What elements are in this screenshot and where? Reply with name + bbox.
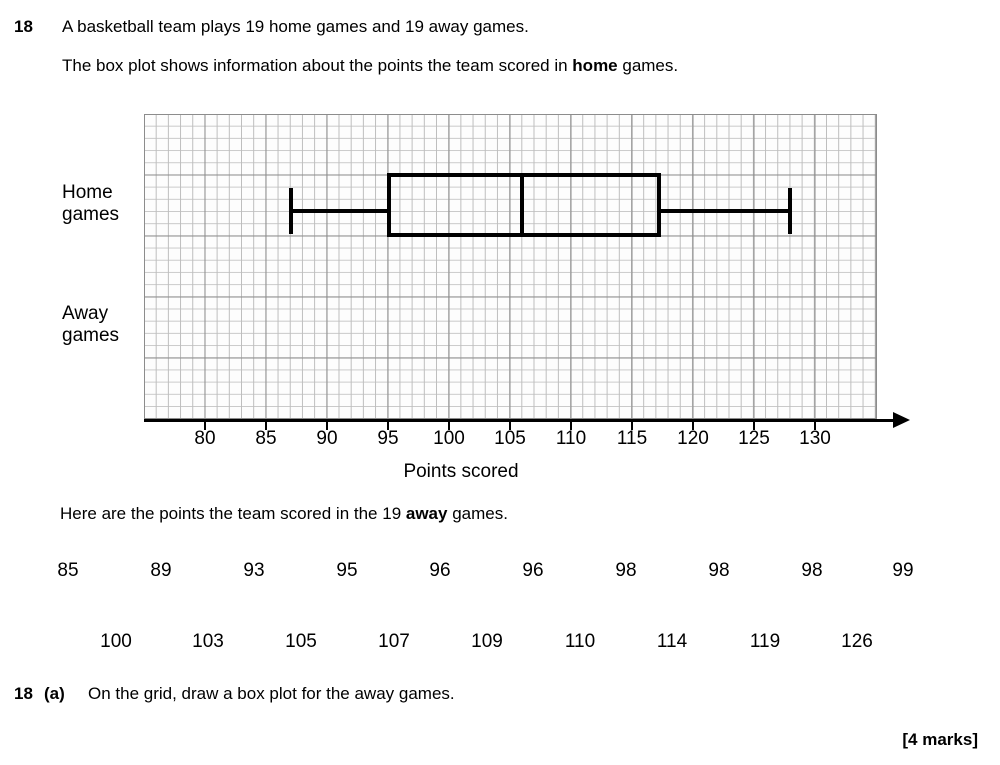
x-axis-title-text: Points scored [403,461,518,483]
away-data-value: 98 [615,561,636,580]
x-tick-label: 115 [617,429,647,448]
part-letter: (a) [44,685,65,702]
part-question-number: 18 [14,685,33,702]
question-line-3-emphasis: away [406,504,448,523]
question-line-3-part-a: Here are the points the team scored in t… [60,504,406,523]
away-data-value: 109 [471,632,503,651]
away-data-value: 98 [708,561,729,580]
x-axis-line [144,419,901,422]
part-a-text: On the grid, draw a box plot for the awa… [88,685,455,702]
x-tick-label: 120 [677,429,709,448]
away-data-value: 105 [285,632,317,651]
away-data-value: 119 [750,632,780,651]
home-q3-edge [657,173,661,237]
away-data-value: 96 [429,561,450,580]
home-median-line [520,173,524,237]
x-tick-label: 85 [255,429,276,448]
home-box-top [387,173,661,177]
away-data-value: 100 [100,632,132,651]
x-tick-label: 105 [494,429,526,448]
home-box-bottom [387,233,661,237]
x-tick-label: 95 [377,429,398,448]
away-data-value: 103 [192,632,224,651]
away-data-value: 110 [565,632,595,651]
x-tick-label: 125 [738,429,770,448]
category-label-home: Home games [62,182,119,227]
x-axis-title: Points scored [0,461,1000,483]
x-tick-label: 90 [316,429,337,448]
away-data-value: 114 [657,632,687,651]
away-data-value: 96 [522,561,543,580]
away-data-value: 98 [801,561,822,580]
home-q1-edge [387,173,391,237]
away-data-value: 85 [57,561,78,580]
category-label-away: Away games [62,303,119,348]
marks-note: [4 marks] [902,730,978,750]
away-data-value: 107 [378,632,410,651]
box-plot-chart: Home games Away games 80 85 90 95 100 10… [0,0,1000,500]
home-upper-whisker [657,209,791,213]
away-data-value: 95 [336,561,357,580]
away-data-value: 99 [892,561,913,580]
x-tick-label: 130 [799,429,831,448]
x-axis-arrow-icon [893,412,910,428]
x-tick-label: 100 [433,429,465,448]
away-data-value: 93 [243,561,264,580]
question-line-3: Here are the points the team scored in t… [60,505,508,522]
away-data-value: 89 [150,561,171,580]
home-lower-whisker [289,209,390,213]
home-max-whisker-cap [788,188,792,234]
question-line-3-part-c: games. [447,504,507,523]
x-tick-label: 110 [556,429,586,448]
x-tick-label: 80 [194,429,215,448]
away-data-value: 126 [841,632,873,651]
plot-grid[interactable] [144,114,877,419]
